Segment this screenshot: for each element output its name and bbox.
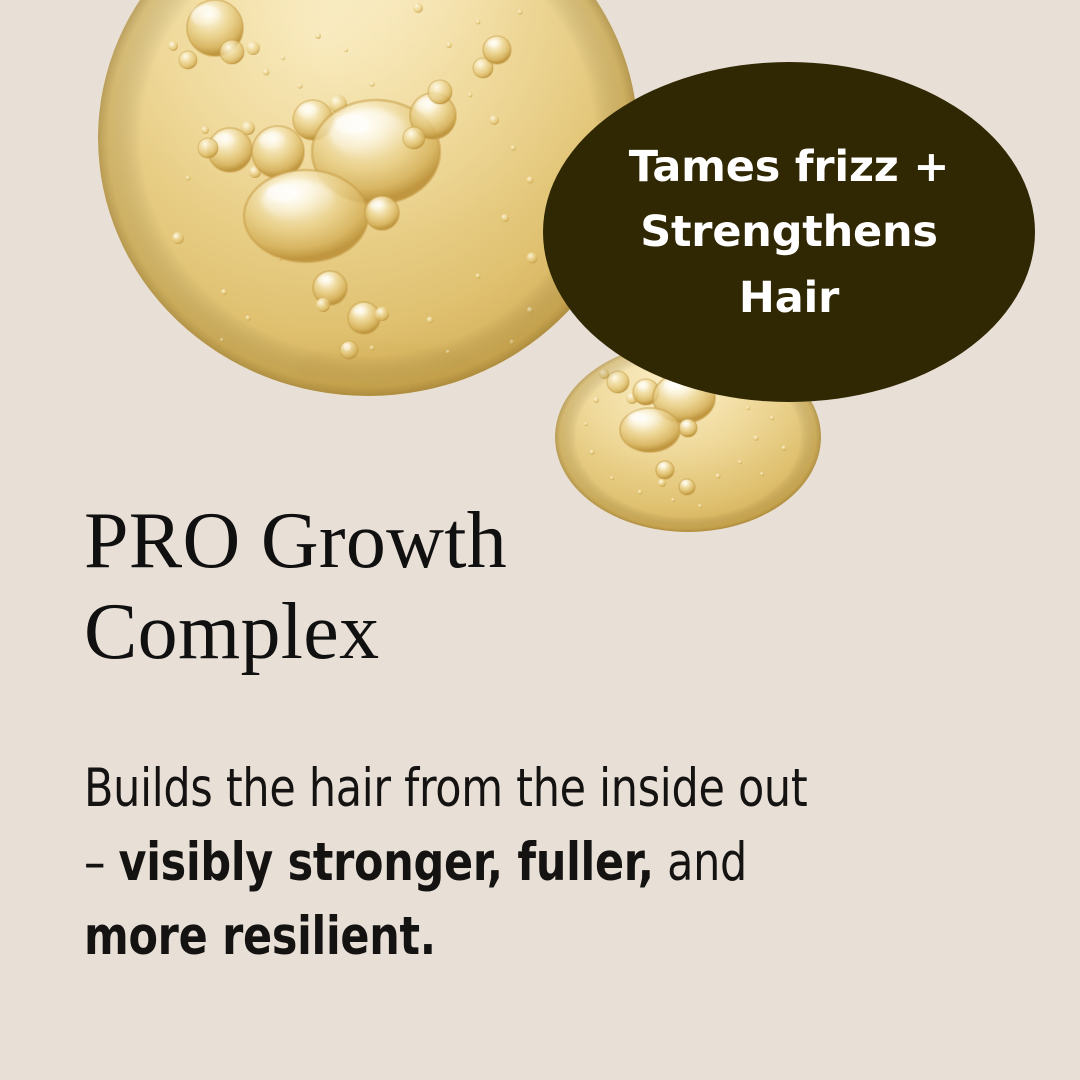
benefit-badge-text: Tames frizz + Strengthens Hair [624,135,954,331]
serum-benefit-card: Tames frizz + Strengthens Hair PRO Growt… [0,0,1080,1080]
body-text: and [654,832,747,893]
body-copy: Builds the hair from the inside out – vi… [84,752,831,975]
body-emphasis: more resilient. [84,906,436,967]
page-title: PRO Growth Complex [84,496,644,678]
body-emphasis: visibly stronger, fuller, [119,832,654,893]
benefit-badge: Tames frizz + Strengthens Hair [543,62,1035,402]
